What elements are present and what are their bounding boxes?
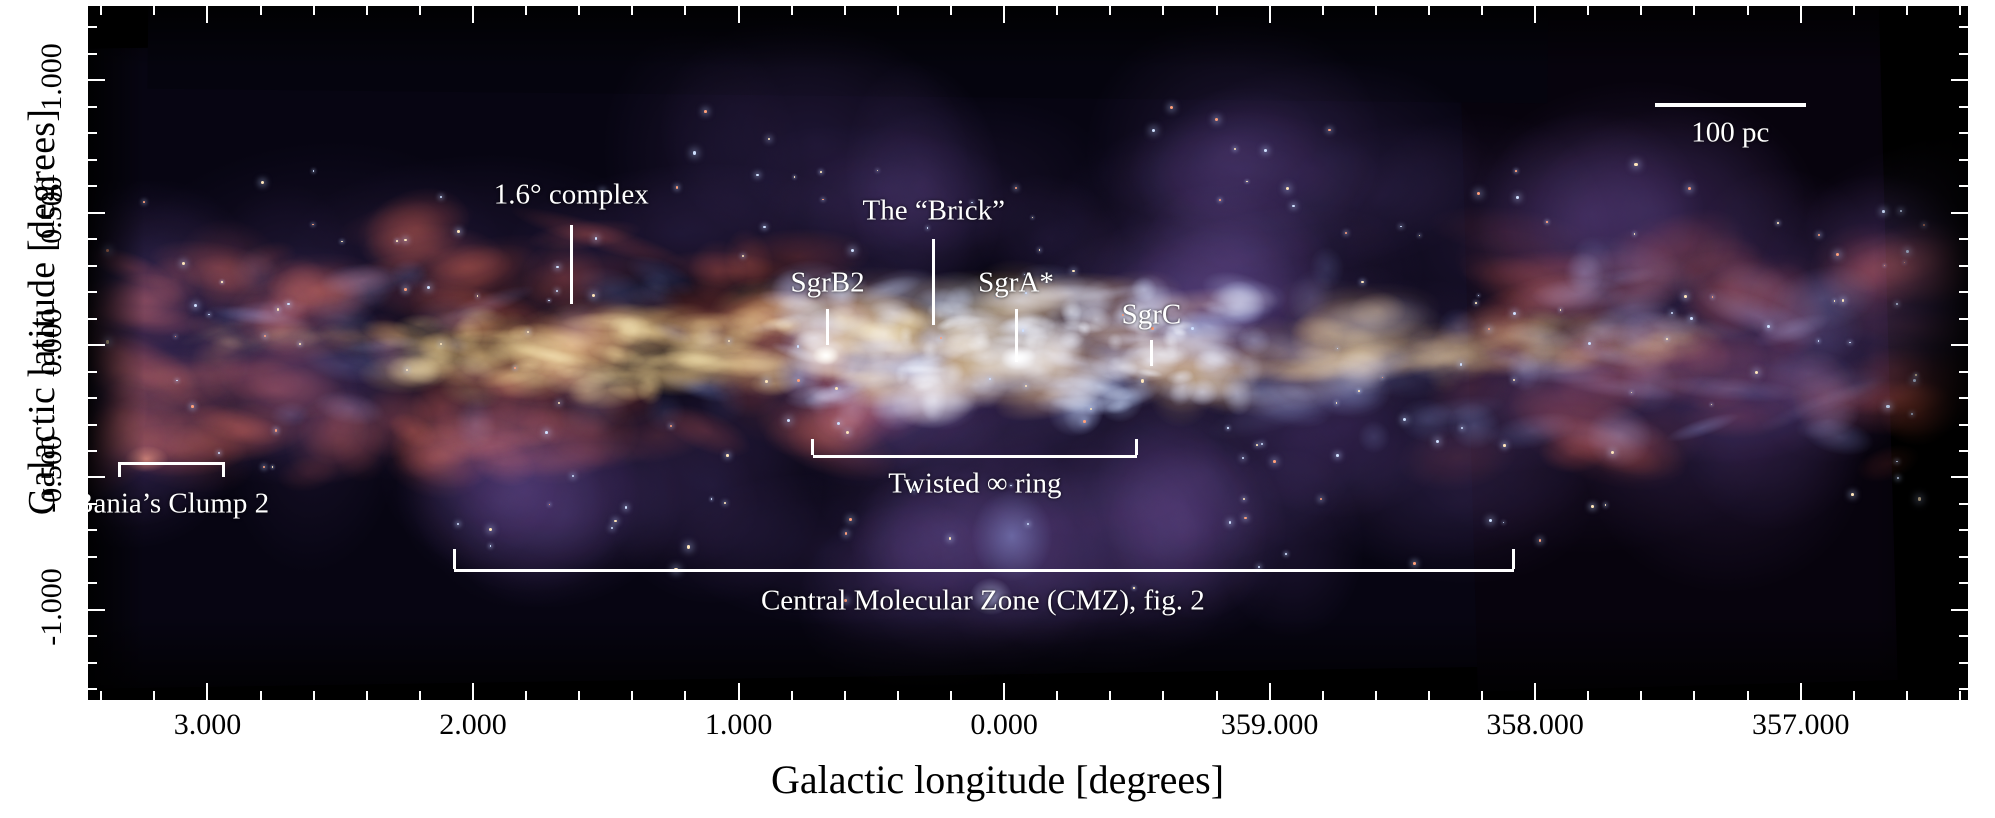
x-tick-top bbox=[1693, 6, 1695, 15]
x-tick-top bbox=[1322, 6, 1324, 15]
point-source bbox=[1227, 427, 1228, 428]
point-source bbox=[1906, 250, 1909, 253]
x-tick-top bbox=[1056, 6, 1058, 15]
x-tick-top bbox=[1269, 6, 1271, 23]
point-source bbox=[396, 240, 398, 242]
x-tick-label: 359.000 bbox=[1160, 708, 1380, 742]
y-tick-right bbox=[1959, 688, 1968, 690]
x-tick-top bbox=[897, 6, 899, 15]
point-source bbox=[1851, 493, 1854, 496]
x-tick-top bbox=[950, 6, 952, 15]
x-tick-bottom bbox=[897, 691, 899, 700]
point-source bbox=[264, 335, 266, 337]
point-source bbox=[457, 230, 460, 233]
x-tick-bottom bbox=[1747, 691, 1749, 700]
x-tick-bottom bbox=[1640, 691, 1642, 700]
point-source bbox=[1027, 523, 1029, 525]
point-source bbox=[1513, 379, 1515, 381]
y-tick-left bbox=[88, 291, 97, 293]
x-tick-top bbox=[1800, 6, 1802, 23]
y-tick-right bbox=[1959, 238, 1968, 240]
x-tick-top bbox=[844, 6, 846, 15]
point-source bbox=[1358, 390, 1360, 392]
y-tick-left bbox=[88, 79, 105, 81]
x-tick-bottom bbox=[419, 691, 421, 700]
y-tick-left bbox=[88, 662, 97, 664]
point-source bbox=[1083, 420, 1086, 423]
x-tick-bottom bbox=[1269, 683, 1271, 700]
point-source bbox=[1191, 327, 1193, 329]
y-tick-right bbox=[1959, 132, 1968, 134]
point-source bbox=[742, 255, 744, 257]
annotation-bracket-cap bbox=[1135, 439, 1138, 455]
y-tick-label: -0.500 bbox=[35, 404, 69, 544]
annotation-label-banias: Bania’s Clump 2 bbox=[88, 487, 269, 520]
y-tick-left bbox=[88, 53, 97, 55]
y-tick-left bbox=[88, 397, 97, 399]
y-tick-right bbox=[1959, 185, 1968, 187]
y-tick-left bbox=[88, 212, 105, 214]
figure-root: Galactic latitude [degrees] Galactic lon… bbox=[0, 0, 1995, 818]
point-source bbox=[404, 288, 407, 291]
x-tick-top bbox=[366, 6, 368, 15]
point-source bbox=[711, 498, 712, 499]
annotation-leader-line bbox=[570, 225, 573, 304]
y-tick-right bbox=[1959, 265, 1968, 267]
x-tick-bottom bbox=[1853, 691, 1855, 700]
y-tick-left bbox=[88, 424, 97, 426]
y-tick-right bbox=[1959, 159, 1968, 161]
annotation-bracket-cap bbox=[118, 462, 121, 477]
x-tick-bottom bbox=[684, 691, 686, 700]
x-tick-bottom bbox=[1481, 691, 1483, 700]
point-source bbox=[218, 452, 220, 454]
point-source bbox=[1336, 454, 1339, 457]
x-tick-bottom bbox=[1162, 691, 1164, 700]
point-source bbox=[143, 201, 145, 203]
x-tick-top bbox=[206, 6, 208, 23]
point-source bbox=[1918, 497, 1921, 500]
x-tick-label: 358.000 bbox=[1425, 708, 1645, 742]
point-source bbox=[797, 345, 799, 347]
y-tick-left bbox=[88, 132, 97, 134]
annotation-label-twisted: Twisted ∞ ring bbox=[888, 468, 1061, 501]
y-tick-label: 0.500 bbox=[35, 140, 69, 280]
annotation-bracket-cap bbox=[811, 439, 814, 455]
x-tick-top bbox=[1003, 6, 1005, 23]
y-tick-left bbox=[88, 238, 97, 240]
y-tick-left bbox=[88, 450, 97, 452]
point-source bbox=[614, 520, 616, 522]
y-tick-right bbox=[1959, 424, 1968, 426]
y-tick-left bbox=[88, 265, 97, 267]
y-tick-right bbox=[1959, 53, 1968, 55]
point-source bbox=[440, 196, 442, 198]
point-source bbox=[1361, 281, 1363, 283]
y-tick-left bbox=[88, 503, 97, 505]
y-tick-right bbox=[1959, 582, 1968, 584]
point-source bbox=[457, 523, 459, 525]
point-source bbox=[726, 454, 728, 456]
y-tick-left bbox=[88, 582, 97, 584]
x-tick-label: 357.000 bbox=[1691, 708, 1911, 742]
nebulosity-blob bbox=[813, 346, 840, 365]
point-source bbox=[1515, 170, 1517, 172]
annotation-bracket-bar bbox=[813, 455, 1137, 458]
x-tick-top bbox=[1959, 6, 1961, 15]
x-tick-bottom bbox=[1375, 691, 1377, 700]
point-source bbox=[820, 171, 822, 173]
point-source bbox=[1777, 222, 1779, 224]
y-tick-left bbox=[88, 609, 105, 611]
point-source bbox=[404, 239, 407, 242]
point-source bbox=[191, 405, 194, 408]
x-tick-top bbox=[1640, 6, 1642, 15]
nebulosity-blob bbox=[1762, 351, 1856, 396]
x-tick-top bbox=[738, 6, 740, 23]
point-source bbox=[728, 340, 730, 342]
y-tick-left bbox=[88, 318, 97, 320]
y-tick-right bbox=[1951, 212, 1968, 214]
y-tick-right bbox=[1959, 318, 1968, 320]
sky-image-plot: 1.6° complexThe “Brick”SgrB2SgrA*SgrCBan… bbox=[88, 6, 1968, 700]
x-tick-bottom bbox=[1906, 691, 1908, 700]
point-source bbox=[1025, 385, 1027, 387]
x-tick-bottom bbox=[366, 691, 368, 700]
point-source bbox=[1244, 517, 1246, 519]
x-tick-top bbox=[100, 6, 102, 15]
y-tick-right bbox=[1959, 662, 1968, 664]
point-source bbox=[221, 281, 222, 282]
y-tick-right bbox=[1959, 106, 1968, 108]
x-tick-bottom bbox=[1056, 691, 1058, 700]
point-source bbox=[545, 431, 548, 434]
x-tick-top bbox=[1534, 6, 1536, 23]
point-source bbox=[693, 151, 696, 154]
y-tick-label: 0.000 bbox=[35, 272, 69, 412]
nebulosity-blob bbox=[972, 491, 1052, 581]
x-tick-top bbox=[1906, 6, 1908, 15]
x-tick-bottom bbox=[313, 691, 315, 700]
x-tick-top bbox=[1428, 6, 1430, 15]
x-tick-bottom bbox=[1109, 691, 1111, 700]
point-source bbox=[1591, 505, 1594, 508]
x-tick-bottom bbox=[791, 691, 793, 700]
x-tick-bottom bbox=[525, 691, 527, 700]
point-source bbox=[1539, 539, 1542, 542]
point-source bbox=[427, 286, 430, 289]
point-source bbox=[1285, 553, 1287, 555]
point-source bbox=[1516, 196, 1519, 199]
x-tick-top bbox=[525, 6, 527, 15]
x-tick-top bbox=[578, 6, 580, 15]
point-source bbox=[625, 506, 627, 508]
x-tick-bottom bbox=[950, 691, 952, 700]
nebulosity-blob bbox=[125, 446, 167, 472]
x-tick-bottom bbox=[206, 683, 208, 700]
x-axis-title: Galactic longitude [degrees] bbox=[0, 756, 1995, 803]
point-source bbox=[756, 174, 758, 176]
x-tick-bottom bbox=[472, 683, 474, 700]
y-tick-left bbox=[88, 371, 97, 373]
x-tick-top bbox=[1109, 6, 1111, 15]
y-tick-label: 1.000 bbox=[35, 7, 69, 147]
annotation-leader-line bbox=[932, 239, 935, 325]
y-tick-right bbox=[1959, 291, 1968, 293]
point-source bbox=[1634, 233, 1635, 234]
point-source bbox=[849, 518, 852, 521]
point-source bbox=[1712, 296, 1714, 298]
point-source bbox=[548, 300, 549, 301]
point-source bbox=[1022, 329, 1024, 331]
y-tick-right bbox=[1959, 503, 1968, 505]
x-tick-top bbox=[260, 6, 262, 15]
annotation-label-16complex: 1.6° complex bbox=[494, 179, 649, 212]
point-source bbox=[106, 340, 109, 343]
point-source bbox=[1755, 371, 1758, 374]
y-tick-left bbox=[88, 106, 97, 108]
x-tick-bottom bbox=[1428, 691, 1430, 700]
point-source bbox=[1836, 253, 1839, 256]
point-source bbox=[822, 199, 824, 201]
point-source bbox=[1915, 374, 1916, 375]
y-tick-right bbox=[1959, 26, 1968, 28]
annotation-label-sgra: SgrA* bbox=[978, 266, 1054, 299]
annotation-bracket-cap bbox=[1512, 549, 1515, 569]
x-tick-bottom bbox=[1959, 691, 1961, 700]
y-tick-left bbox=[88, 635, 97, 637]
point-source bbox=[182, 262, 185, 265]
annotation-bracket-cap bbox=[222, 462, 225, 477]
annotation-label-sgrb2: SgrB2 bbox=[790, 266, 864, 299]
point-source bbox=[1503, 444, 1506, 447]
point-source bbox=[846, 431, 849, 434]
x-tick-bottom bbox=[260, 691, 262, 700]
y-tick-left bbox=[88, 556, 97, 558]
point-source bbox=[1688, 187, 1691, 190]
y-tick-left bbox=[88, 529, 97, 531]
point-source bbox=[1475, 302, 1477, 304]
annotation-label-sgrc: SgrC bbox=[1122, 298, 1182, 331]
point-source bbox=[299, 343, 301, 345]
y-tick-right bbox=[1951, 344, 1968, 346]
point-source bbox=[724, 502, 726, 504]
point-source bbox=[1671, 312, 1674, 315]
y-tick-right bbox=[1959, 529, 1968, 531]
scalebar-line bbox=[1655, 103, 1806, 107]
x-tick-top bbox=[684, 6, 686, 15]
x-tick-top bbox=[153, 6, 155, 15]
y-tick-right bbox=[1959, 635, 1968, 637]
y-tick-left bbox=[88, 185, 97, 187]
point-source bbox=[1273, 460, 1276, 463]
point-source bbox=[1246, 181, 1247, 182]
point-source bbox=[1403, 418, 1406, 421]
x-tick-top bbox=[1853, 6, 1855, 15]
annotation-bracket-bar bbox=[454, 569, 1513, 572]
x-tick-bottom bbox=[631, 691, 633, 700]
x-tick-bottom bbox=[844, 691, 846, 700]
y-tick-right bbox=[1951, 609, 1968, 611]
y-tick-left bbox=[88, 159, 97, 161]
point-source bbox=[670, 425, 672, 427]
point-source bbox=[1546, 221, 1547, 222]
point-source bbox=[1911, 413, 1913, 415]
annotation-label-cmz: Central Molecular Zone (CMZ), fig. 2 bbox=[761, 584, 1205, 617]
annotation-bracket-bar bbox=[120, 462, 224, 465]
point-source bbox=[1170, 106, 1173, 109]
nebulosity-blob bbox=[516, 311, 628, 380]
y-tick-label: -1.000 bbox=[35, 537, 69, 677]
x-tick-label: 2.000 bbox=[363, 708, 583, 742]
point-source bbox=[1219, 199, 1221, 201]
x-tick-bottom bbox=[100, 691, 102, 700]
point-source bbox=[1684, 295, 1687, 298]
point-source bbox=[1039, 249, 1041, 251]
y-tick-right bbox=[1951, 476, 1968, 478]
y-tick-left bbox=[88, 344, 105, 346]
x-tick-top bbox=[1481, 6, 1483, 15]
y-tick-right bbox=[1951, 79, 1968, 81]
x-tick-bottom bbox=[153, 691, 155, 700]
x-tick-top bbox=[1587, 6, 1589, 15]
point-source bbox=[514, 367, 516, 369]
x-tick-top bbox=[1162, 6, 1164, 15]
nebulosity-blob bbox=[1001, 346, 1036, 370]
y-tick-left bbox=[88, 688, 97, 690]
x-tick-bottom bbox=[1003, 683, 1005, 700]
point-source bbox=[1256, 444, 1258, 446]
point-source bbox=[676, 186, 678, 188]
y-tick-left bbox=[88, 476, 105, 478]
annotation-label-brick: The “Brick” bbox=[862, 195, 1005, 228]
point-source bbox=[1328, 129, 1330, 131]
x-tick-top bbox=[313, 6, 315, 15]
x-tick-top bbox=[419, 6, 421, 15]
y-tick-right bbox=[1959, 450, 1968, 452]
point-source bbox=[1588, 342, 1591, 345]
point-source bbox=[1234, 148, 1236, 150]
point-source bbox=[1897, 477, 1899, 479]
nebulosity-blob bbox=[914, 324, 962, 356]
point-source bbox=[527, 331, 529, 333]
x-tick-label: 0.000 bbox=[894, 708, 1114, 742]
point-source bbox=[1560, 309, 1561, 310]
point-source bbox=[1923, 224, 1925, 226]
point-source bbox=[1842, 299, 1845, 302]
y-tick-right bbox=[1959, 397, 1968, 399]
point-source bbox=[1690, 317, 1693, 320]
y-tick-right bbox=[1959, 556, 1968, 558]
x-tick-top bbox=[472, 6, 474, 23]
x-tick-top bbox=[1375, 6, 1377, 15]
point-source bbox=[1413, 562, 1416, 565]
x-tick-top bbox=[1747, 6, 1749, 15]
annotation-leader-line bbox=[826, 309, 829, 345]
point-source bbox=[1215, 118, 1218, 121]
y-tick-right bbox=[1959, 371, 1968, 373]
x-tick-bottom bbox=[1587, 691, 1589, 700]
annotation-leader-line bbox=[1015, 309, 1018, 362]
x-tick-bottom bbox=[1800, 683, 1802, 700]
x-tick-top bbox=[791, 6, 793, 15]
x-tick-bottom bbox=[1322, 691, 1324, 700]
x-tick-label: 1.000 bbox=[629, 708, 849, 742]
annotation-bracket-cap bbox=[453, 549, 456, 569]
point-source bbox=[765, 380, 768, 383]
point-source bbox=[1767, 325, 1770, 328]
point-source bbox=[704, 110, 707, 113]
x-tick-bottom bbox=[1534, 683, 1536, 700]
y-tick-left bbox=[88, 26, 97, 28]
x-tick-top bbox=[1216, 6, 1218, 15]
point-source bbox=[1141, 379, 1144, 382]
scalebar-label: 100 pc bbox=[1691, 117, 1769, 150]
x-tick-top bbox=[631, 6, 633, 15]
point-source bbox=[1882, 210, 1885, 213]
x-tick-bottom bbox=[578, 691, 580, 700]
x-tick-bottom bbox=[1216, 691, 1218, 700]
point-source bbox=[687, 545, 690, 548]
x-tick-bottom bbox=[738, 683, 740, 700]
point-source bbox=[287, 303, 290, 306]
x-tick-label: 3.000 bbox=[97, 708, 317, 742]
annotation-leader-line bbox=[1150, 340, 1153, 366]
point-source bbox=[1072, 270, 1074, 272]
x-tick-bottom bbox=[1693, 691, 1695, 700]
